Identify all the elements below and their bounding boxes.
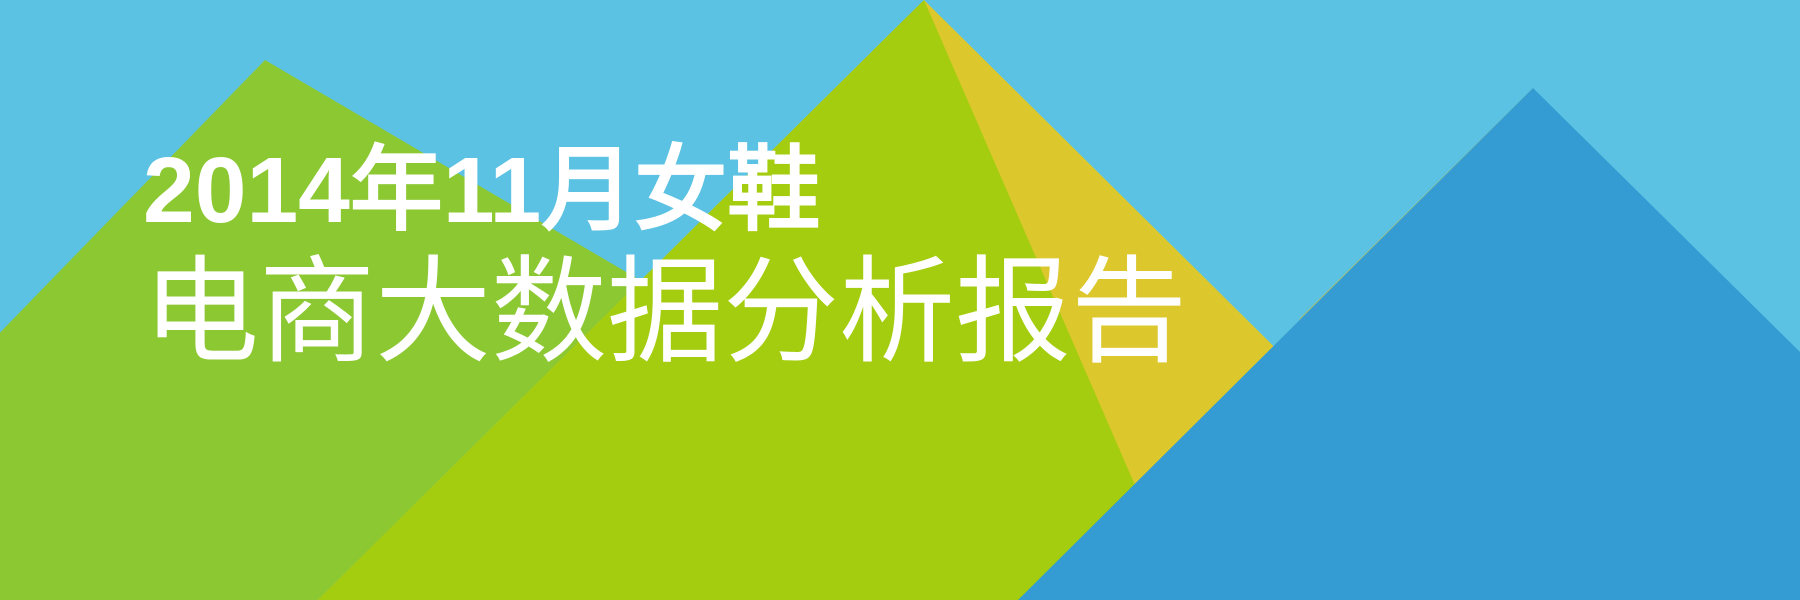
background-geometry [0, 0, 1800, 600]
report-cover-banner: 2014年11月女鞋 电商大数据分析报告 [0, 0, 1800, 600]
